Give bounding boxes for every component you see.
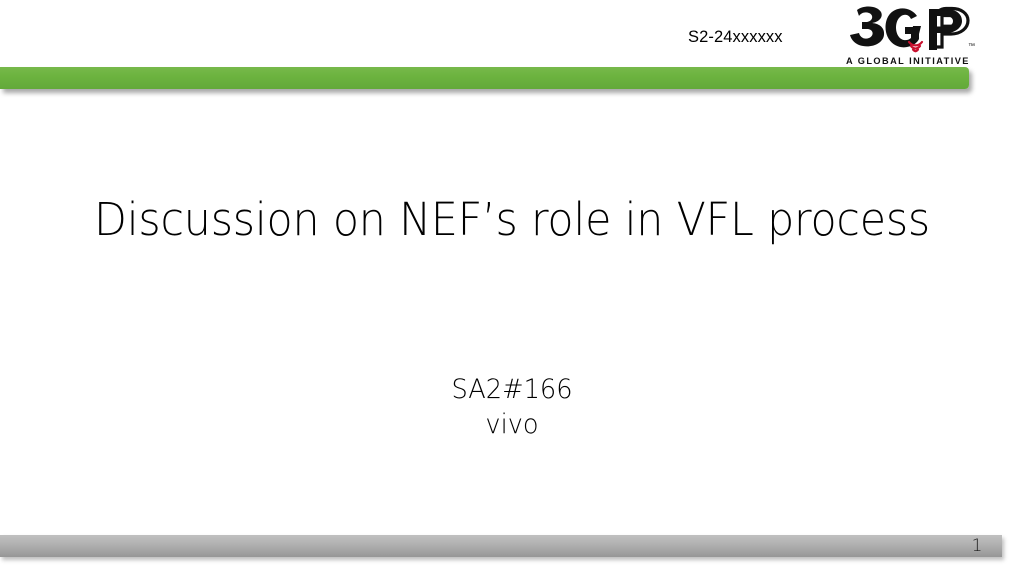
slide-title: Discussion on NEF’s role in VFL process: [86, 192, 937, 248]
subtitle-meeting: SA2#166: [86, 372, 937, 407]
page-number: 1: [952, 536, 1002, 557]
signal-arcs-icon: [909, 42, 922, 51]
slide-canvas: S2-24xxxxxx ™ A GLOBAL INITIATIVE: [0, 0, 1024, 576]
3gpp-logo-graphic: ™ A GLOBAL INITIATIVE: [843, 2, 977, 68]
footer-gray-bar: [0, 535, 1002, 557]
header-green-bar-fill: [0, 67, 969, 89]
subtitle-company: vivo: [86, 407, 937, 442]
document-number: S2-24xxxxxx: [688, 28, 783, 47]
header-green-bar: [0, 67, 969, 89]
slide-subtitle: SA2#166 vivo: [86, 372, 937, 442]
footer-gray-bar-fill: [0, 535, 1002, 557]
trademark-symbol: ™: [968, 43, 975, 50]
3gpp-logo: ™ A GLOBAL INITIATIVE: [843, 2, 977, 68]
logo-tagline: A GLOBAL INITIATIVE: [846, 56, 970, 66]
